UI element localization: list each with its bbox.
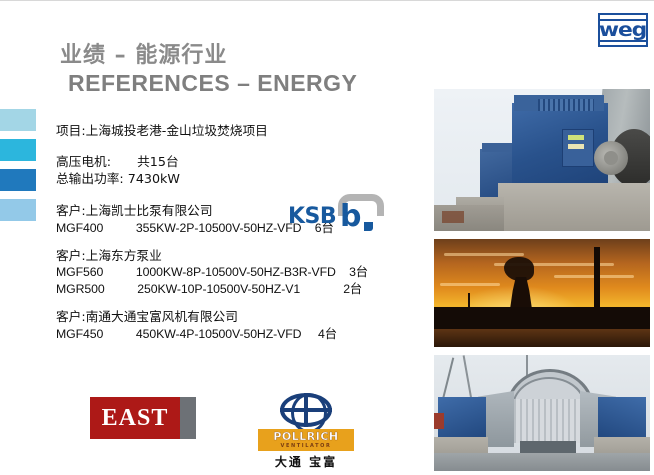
slide-root: weg 业绩 – 能源行业 REFERENCES – ENERGY 项目:上海城… [0, 0, 654, 475]
globe-icon [280, 393, 332, 427]
page-title: 业绩 – 能源行业 REFERENCES – ENERGY [60, 43, 357, 98]
photo-concrete-base [498, 183, 650, 231]
accent-bar-light-blue [0, 109, 36, 131]
item-spec: 450KW-4P-10500V-50HZ-VFD [136, 327, 302, 341]
pollrich-logo: POLLRICH VENTILATOR 大通 宝富 [258, 393, 354, 469]
accent-bar-cyan [0, 139, 36, 161]
pollrich-logo-name: POLLRICH [273, 431, 338, 442]
accent-bar-group [0, 109, 36, 229]
item-spec: 250KW-10P-10500V-50HZ-V1 [137, 282, 300, 296]
east-logo-text: EAST [90, 397, 180, 439]
photo-shaft-center [604, 151, 618, 165]
photo-motor-left [438, 397, 486, 439]
photo-water-reflection [434, 329, 650, 347]
ksb-logo-b-dot [364, 222, 373, 231]
item-model: MGF450 [56, 327, 103, 341]
project-title-line: 项目:上海城投老港-金山垃圾焚烧项目 [56, 122, 426, 139]
pollrich-logo-subtitle: VENTILATOR [281, 444, 332, 449]
total-power-line: 总输出功率: 7430kW [56, 170, 426, 187]
ksb-logo-b-mark: b [340, 202, 361, 232]
motor-count-label: 高压电机: [56, 154, 111, 169]
item-qty: 2台 [343, 282, 362, 296]
total-power-label: 总输出功率: [56, 171, 124, 186]
customer-item-1-1: MGR500 250KW-10P-10500V-50HZ-V1 2台 [56, 281, 426, 298]
item-model: MGF560 [56, 265, 103, 279]
weg-logo-text: weg [599, 21, 646, 40]
accent-bar-sky-blue [0, 199, 36, 221]
photo-nameplate [568, 135, 584, 140]
photo-motor-vents [538, 99, 594, 111]
item-qty: 4台 [318, 327, 337, 341]
photo-worker [442, 211, 464, 223]
total-power-value: 7430kW [128, 171, 180, 186]
motor-count-value: 共15台 [137, 154, 179, 169]
customer-item-2-0: MGF450 450KW-4P-10500V-50HZ-VFD 4台 [56, 326, 426, 343]
pollrich-logo-chinese: 大通 宝富 [258, 453, 354, 470]
item-model: MGR500 [56, 282, 105, 296]
photo-blue-high-voltage-motors [434, 89, 650, 231]
photo-motor-right [598, 397, 646, 439]
photo-power-plant-sunset [434, 239, 650, 347]
photo-cloud [444, 253, 524, 256]
photo-shoreline [434, 307, 650, 329]
ksb-logo: KSB b [288, 194, 398, 236]
item-model: MGF400 [56, 221, 103, 235]
photo-site-ground [434, 453, 650, 471]
weg-logo: weg [598, 13, 648, 47]
page-title-chinese: 业绩 – 能源行业 [60, 43, 357, 68]
motor-count-line: 高压电机: 共15台 [56, 153, 426, 170]
customer-name-1: 客户:上海东方泵业 [56, 247, 426, 264]
customer-name-2: 客户:南通大通宝富风机有限公司 [56, 308, 426, 325]
photo-scaffolding [510, 399, 584, 443]
item-qty: 3台 [349, 265, 368, 279]
east-logo-grey-bar [180, 397, 196, 439]
photo-nameplate-secondary [568, 144, 584, 149]
photo-red-container [434, 413, 444, 429]
east-logo: EAST [90, 397, 196, 439]
globe-icon-ellipse [291, 393, 327, 433]
accent-bar-dark-blue [0, 169, 36, 191]
ksb-logo-text: KSB [288, 204, 336, 229]
item-spec: 1000KW-8P-10500V-50HZ-B3R-VFD [136, 265, 336, 279]
pollrich-logo-band: POLLRICH VENTILATOR [258, 429, 354, 451]
customer-item-1-0: MGF560 1000KW-8P-10500V-50HZ-B3R-VFD 3台 [56, 264, 426, 281]
item-spec: 355KW-2P-10500V-50HZ-VFD [136, 221, 302, 235]
photo-construction-site [434, 355, 650, 471]
page-title-english: REFERENCES – ENERGY [68, 70, 357, 98]
